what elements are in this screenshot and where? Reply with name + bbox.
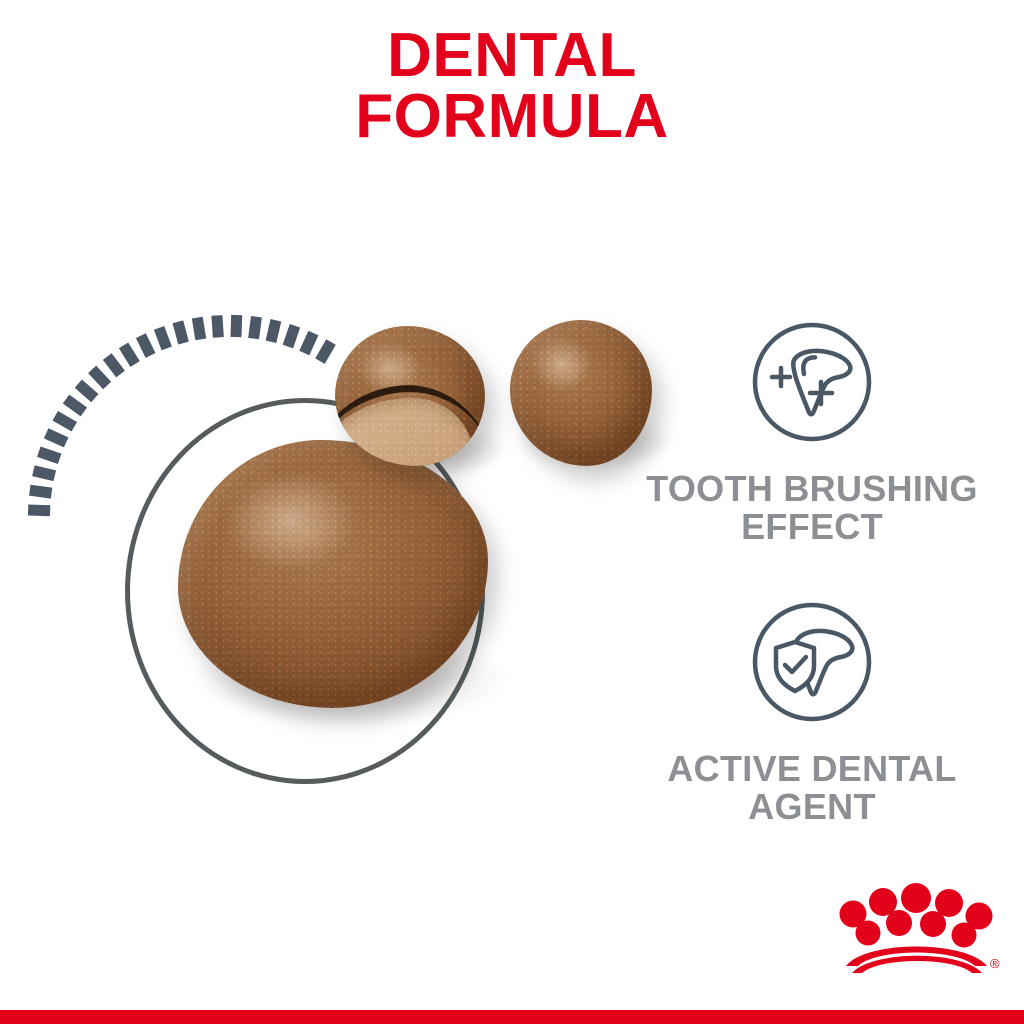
- page-title-line-2: FORMULA: [0, 87, 1024, 148]
- page-title-line-1: DENTAL: [0, 26, 1024, 87]
- royal-canin-crown-logo: ®: [832, 880, 1002, 976]
- feature-label: ACTIVE DENTAL AGENT: [600, 750, 1024, 826]
- registered-mark: ®: [990, 956, 1000, 971]
- bottom-accent-bar: [0, 1010, 1024, 1024]
- poster-canvas: DENTAL FORMULA: [0, 0, 1024, 1024]
- tooth-sparkle-icon: [747, 318, 877, 448]
- page-title: DENTAL FORMULA: [0, 26, 1024, 148]
- tooth-shield-check-icon: [747, 598, 877, 728]
- kibble-cut-edge: [335, 377, 485, 466]
- kibble-illustration: [40, 300, 600, 820]
- feature-active-dental-agent: ACTIVE DENTAL AGENT: [600, 598, 1024, 826]
- feature-list: TOOTH BRUSHING EFFECT ACTIVE DENTAL AGEN…: [600, 318, 1024, 827]
- feature-label: TOOTH BRUSHING EFFECT: [600, 470, 1024, 546]
- small-kibble-cutaway: [335, 326, 485, 466]
